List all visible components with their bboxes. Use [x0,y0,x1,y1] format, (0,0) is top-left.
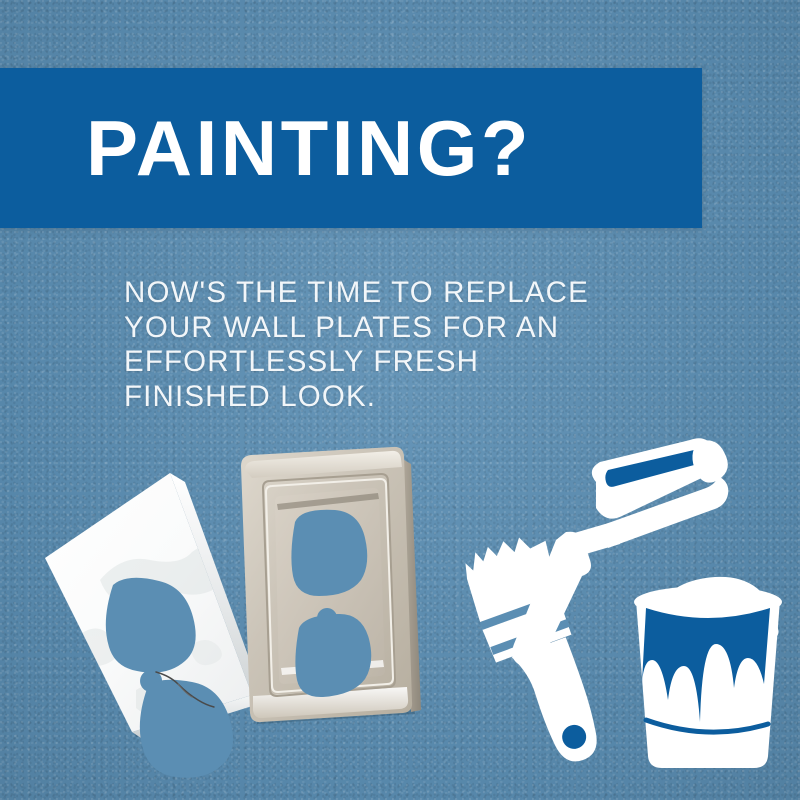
beige-outlet-wall-plate [215,440,445,740]
poster-canvas: PAINTING? NOW'S THE TIME TO REPLACE YOUR… [0,0,800,800]
artwork-group [0,0,800,800]
painting-tools-group [440,430,780,770]
paint-can-icon [634,583,782,768]
